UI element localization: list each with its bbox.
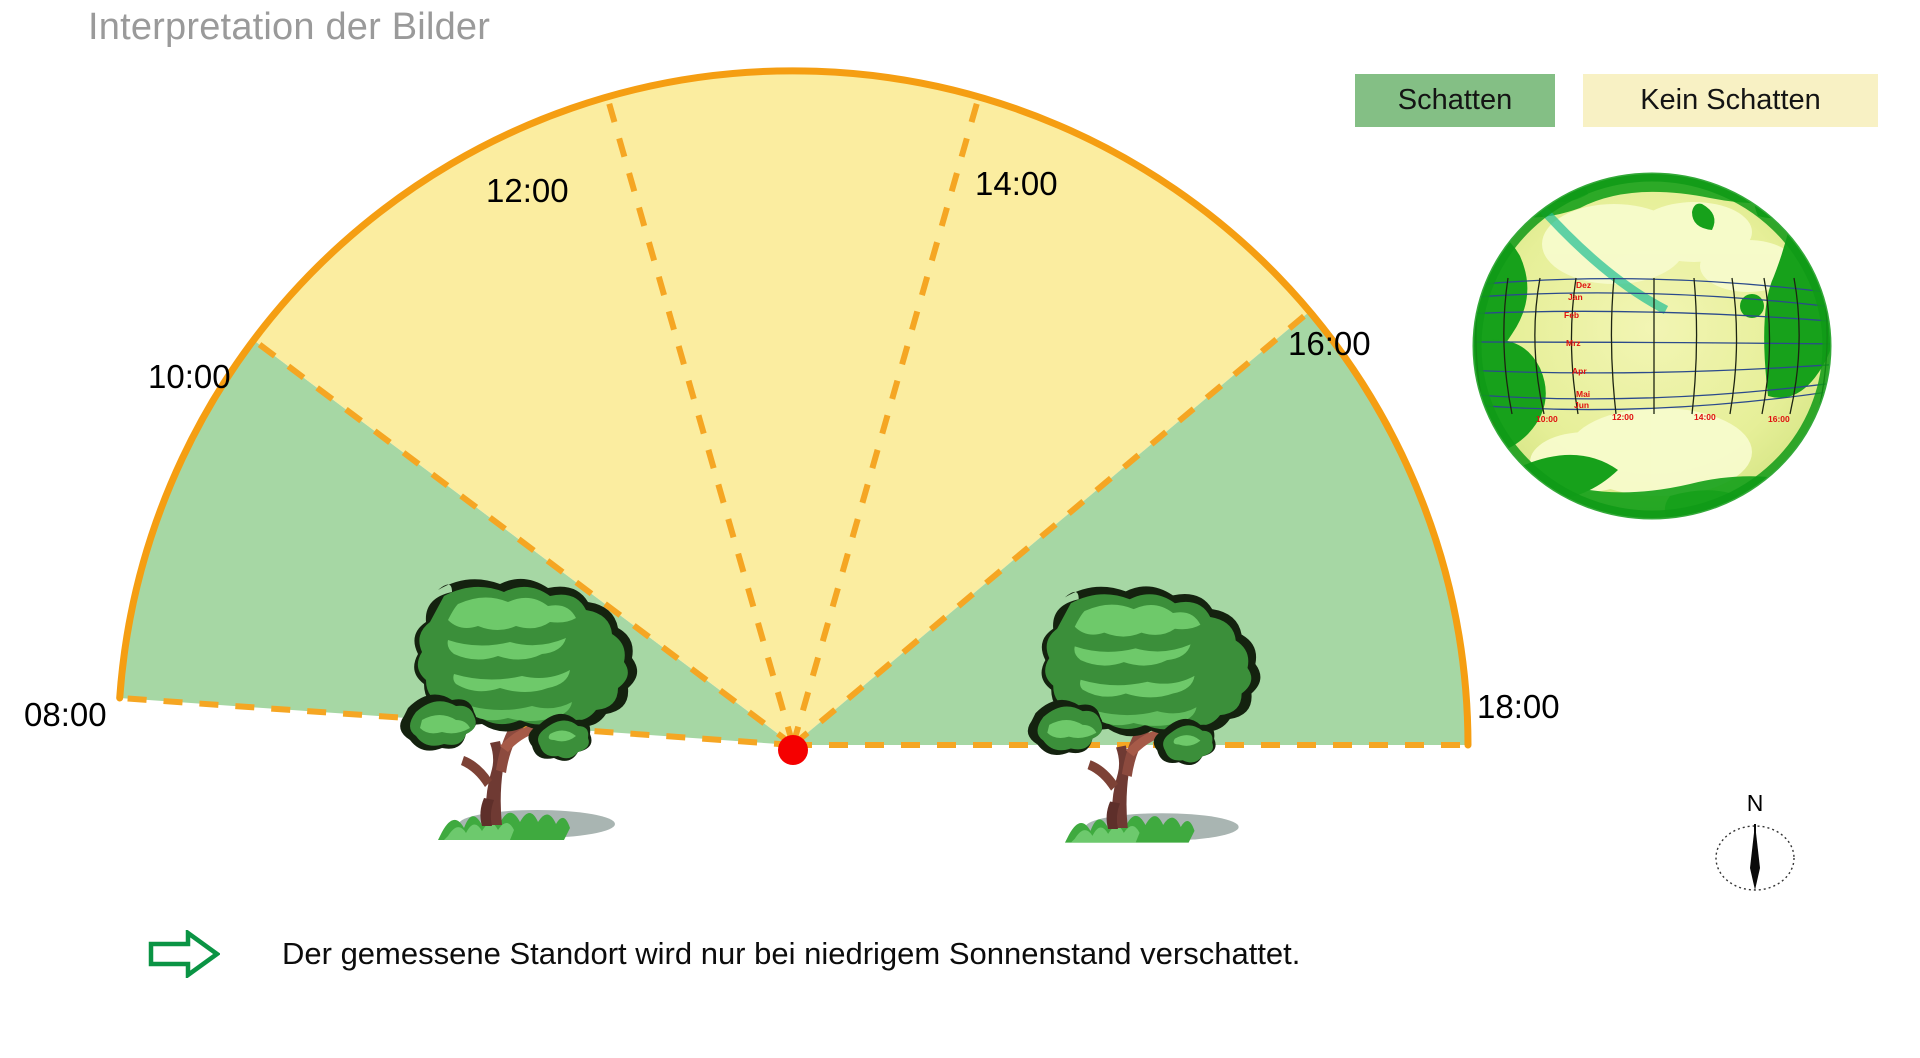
fisheye-month-label-mrz: Mrz <box>1566 338 1581 348</box>
time-label-10-00: 10:00 <box>148 358 231 396</box>
fisheye-time-label-12: 12:00 <box>1612 412 1634 422</box>
fisheye-horizon-photo[interactable]: Dez Jan Feb Mrz Apr Mai Jun 8:00 10:00 1… <box>1464 166 1840 526</box>
fisheye-time-label-16: 16:00 <box>1768 414 1790 424</box>
fisheye-month-label-jun: Jun <box>1574 400 1589 410</box>
tree-grass-tuft <box>438 813 570 840</box>
fisheye-month-label-dez: Dez <box>1576 280 1591 290</box>
tree-grass-tuft <box>1065 816 1195 843</box>
fisheye-month-label-feb: Feb <box>1564 310 1579 320</box>
measurement-point-dot[interactable] <box>778 735 808 765</box>
conclusion-caption-text: Der gemessene Standort wird nur bei nied… <box>282 936 1300 972</box>
fisheye-time-label-18: 18:00 <box>1822 418 1840 428</box>
fisheye-month-label-apr: Apr <box>1572 366 1587 376</box>
compass-needle-icon <box>1710 816 1800 896</box>
tree-illustration-left <box>382 570 652 860</box>
time-label-18-00: 18:00 <box>1477 688 1560 726</box>
tree-illustration-right <box>1010 575 1275 865</box>
compass-rose-widget: N <box>1710 790 1800 900</box>
fisheye-content: Dez Jan Feb Mrz Apr Mai Jun 8:00 10:00 1… <box>1464 166 1840 526</box>
time-label-08-00: 08:00 <box>24 696 107 734</box>
time-label-14-00: 14:00 <box>975 165 1058 203</box>
fisheye-month-label-mai: Mai <box>1576 389 1590 399</box>
compass-north-label: N <box>1710 790 1800 817</box>
fisheye-time-label-10: 10:00 <box>1536 414 1558 424</box>
conclusion-caption: Der gemessene Standort wird nur bei nied… <box>148 930 1300 978</box>
fisheye-month-label-jan: Jan <box>1568 292 1583 302</box>
ground-mask <box>0 753 1920 1058</box>
sun-path-fan-diagram <box>0 0 1920 1058</box>
time-label-12-00: 12:00 <box>486 172 569 210</box>
fisheye-time-label-14: 14:00 <box>1694 412 1716 422</box>
time-label-16-00: 16:00 <box>1288 325 1371 363</box>
arrow-right-icon <box>148 930 220 978</box>
